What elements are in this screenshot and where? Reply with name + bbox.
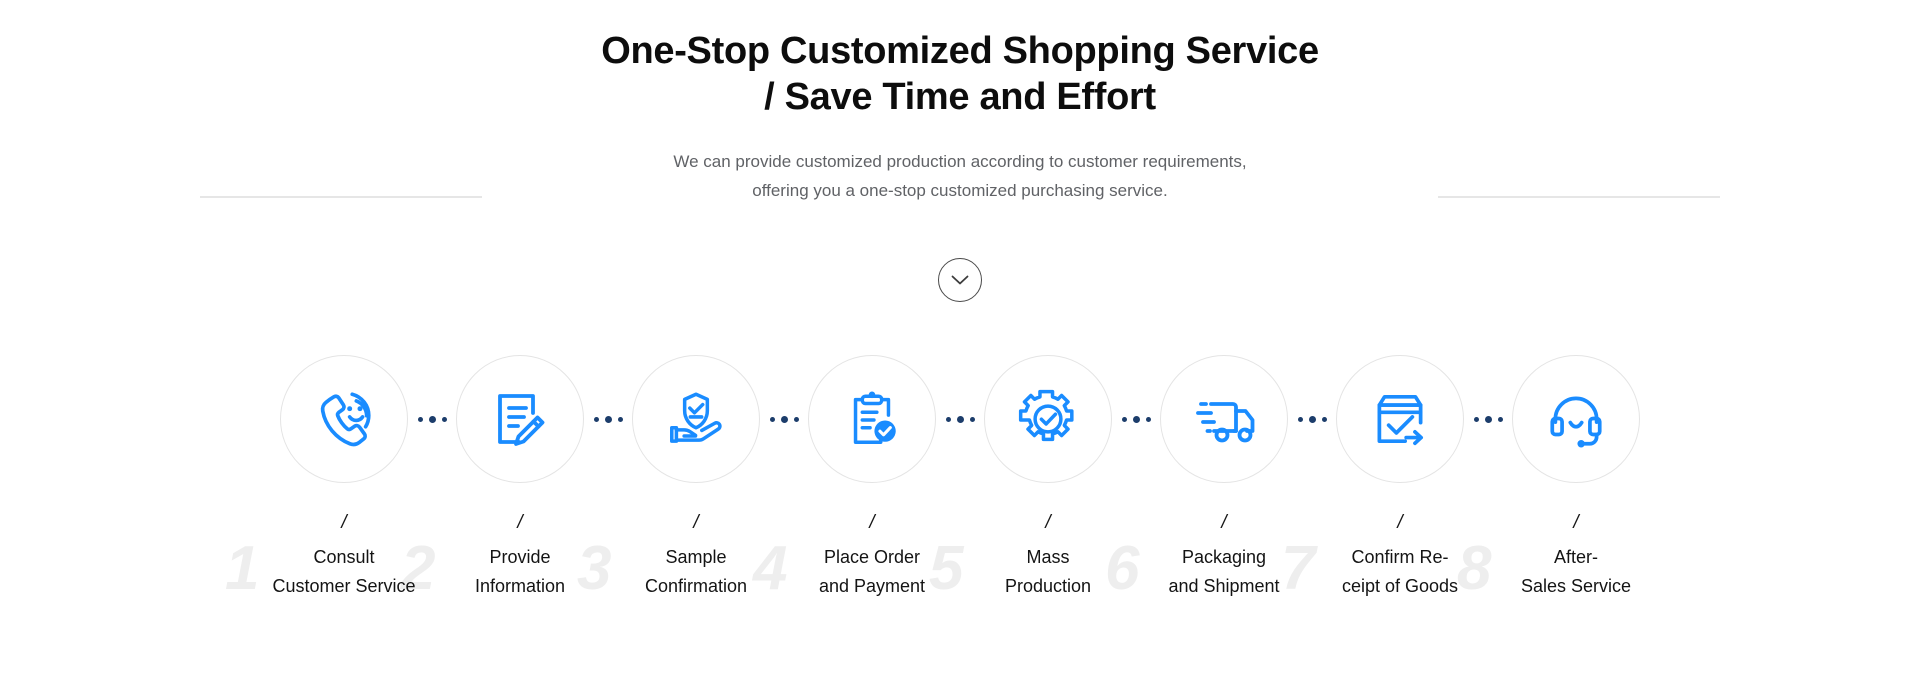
connector-dot xyxy=(429,416,436,423)
document-pencil-icon xyxy=(488,387,552,451)
connector-dot xyxy=(794,417,799,422)
hand-shield-check-icon xyxy=(663,386,729,452)
step-label-7: Confirm Re- ceipt of Goods xyxy=(1305,543,1495,601)
step-icon-circle-1[interactable] xyxy=(280,355,408,483)
connector-dot xyxy=(957,416,964,423)
process-step-2: / 2 Provide Information xyxy=(456,355,584,601)
step-label-8: After- Sales Service xyxy=(1481,543,1671,601)
connector-dot xyxy=(1322,417,1327,422)
step-label-6: Packaging and Shipment xyxy=(1129,543,1319,601)
process-step-3: / 3 Sample Confirmation xyxy=(632,355,760,601)
connector-dot xyxy=(770,417,775,422)
section-subtitle-line-2: offering you a one-stop customized purch… xyxy=(0,176,1920,205)
step-label-line1-5: Mass xyxy=(953,543,1143,572)
step-icon-circle-5[interactable] xyxy=(984,355,1112,483)
connector-dot xyxy=(1122,417,1127,422)
step-icon-circle-4[interactable] xyxy=(808,355,936,483)
divider-rule-right xyxy=(1438,196,1720,198)
connector-dot xyxy=(1298,417,1303,422)
step-connector-7 xyxy=(1464,355,1512,483)
connector-dot xyxy=(1498,417,1503,422)
clipboard-check-icon xyxy=(841,388,903,450)
connector-dot xyxy=(1309,416,1316,423)
step-connector-3 xyxy=(760,355,808,483)
section-subtitle-line-1: We can provide customized production acc… xyxy=(0,147,1920,176)
step-label-line1-4: Place Order xyxy=(777,543,967,572)
step-text-6: 6 Packaging and Shipment xyxy=(1129,543,1319,601)
delivery-truck-icon xyxy=(1190,385,1258,453)
step-label-line2-6: and Shipment xyxy=(1129,572,1319,601)
connector-dot xyxy=(946,417,951,422)
step-label-line1-3: Sample xyxy=(601,543,791,572)
step-text-8: 8 After- Sales Service xyxy=(1481,543,1671,601)
step-text-3: 3 Sample Confirmation xyxy=(601,543,791,601)
step-connector-5 xyxy=(1112,355,1160,483)
step-connector-1 xyxy=(408,355,456,483)
section-header: One-Stop Customized Shopping Service / S… xyxy=(0,0,1920,205)
step-slash-1: / xyxy=(341,513,346,532)
gear-check-icon xyxy=(1015,386,1081,452)
step-label-line2-4: and Payment xyxy=(777,572,967,601)
process-step-8: / 8 After- Sales Service xyxy=(1512,355,1640,601)
connector-dot xyxy=(1146,417,1151,422)
step-connector-6 xyxy=(1288,355,1336,483)
step-icon-circle-2[interactable] xyxy=(456,355,584,483)
step-slash-4: / xyxy=(869,513,874,532)
step-slash-5: / xyxy=(1045,513,1050,532)
step-label-3: Sample Confirmation xyxy=(601,543,791,601)
divider-rule-left xyxy=(200,196,482,198)
step-label-1: Consult Customer Service xyxy=(249,543,439,601)
connector-dot xyxy=(418,417,423,422)
process-steps: / 1 Consult Customer Service xyxy=(0,355,1920,601)
process-step-5: / 5 Mass Production xyxy=(984,355,1112,601)
step-icon-circle-8[interactable] xyxy=(1512,355,1640,483)
page-title-line-1: One-Stop Customized Shopping Service xyxy=(0,28,1920,74)
step-icon-circle-7[interactable] xyxy=(1336,355,1464,483)
step-text-4: 4 Place Order and Payment xyxy=(777,543,967,601)
connector-dot xyxy=(594,417,599,422)
step-slash-2: / xyxy=(517,513,522,532)
connector-dot xyxy=(1485,416,1492,423)
step-text-1: 1 Consult Customer Service xyxy=(249,543,439,601)
step-slash-8: / xyxy=(1573,513,1578,532)
process-step-7: / 7 Confirm Re- ceipt of Goods xyxy=(1336,355,1464,601)
process-step-1: / 1 Consult Customer Service xyxy=(280,355,408,601)
chevron-down-icon xyxy=(951,275,969,286)
step-label-line1-7: Confirm Re- xyxy=(1305,543,1495,572)
step-icon-circle-6[interactable] xyxy=(1160,355,1288,483)
step-label-line2-7: ceipt of Goods xyxy=(1305,572,1495,601)
step-label-line1-2: Provide xyxy=(425,543,615,572)
step-connector-2 xyxy=(584,355,632,483)
connector-dot xyxy=(442,417,447,422)
step-label-line2-5: Production xyxy=(953,572,1143,601)
step-label-4: Place Order and Payment xyxy=(777,543,967,601)
process-step-4: / 4 Place Order and Payment xyxy=(808,355,936,601)
step-label-line1-8: After- xyxy=(1481,543,1671,572)
step-label-2: Provide Information xyxy=(425,543,615,601)
connector-dot xyxy=(605,416,612,423)
scroll-down-button[interactable] xyxy=(938,258,982,302)
connector-dot xyxy=(1133,416,1140,423)
connector-dot xyxy=(970,417,975,422)
step-slash-3: / xyxy=(693,513,698,532)
step-icon-circle-3[interactable] xyxy=(632,355,760,483)
step-slash-6: / xyxy=(1221,513,1226,532)
step-label-line2-3: Confirmation xyxy=(601,572,791,601)
step-text-7: 7 Confirm Re- ceipt of Goods xyxy=(1305,543,1495,601)
step-text-5: 5 Mass Production xyxy=(953,543,1143,601)
step-label-5: Mass Production xyxy=(953,543,1143,601)
connector-dot xyxy=(1474,417,1479,422)
page-title-line-2: / Save Time and Effort xyxy=(0,74,1920,120)
step-label-line2-8: Sales Service xyxy=(1481,572,1671,601)
connector-dot xyxy=(781,416,788,423)
headset-icon xyxy=(1543,386,1609,452)
process-step-6: / 6 Packaging and Shipment xyxy=(1160,355,1288,601)
step-connector-4 xyxy=(936,355,984,483)
step-label-line2-2: Information xyxy=(425,572,615,601)
customized-service-process-section: One-Stop Customized Shopping Service / S… xyxy=(0,0,1920,673)
phone-smile-icon xyxy=(311,386,377,452)
step-label-line2-1: Customer Service xyxy=(249,572,439,601)
step-text-2: 2 Provide Information xyxy=(425,543,615,601)
step-label-line1-6: Packaging xyxy=(1129,543,1319,572)
connector-dot xyxy=(618,417,623,422)
step-label-line1-1: Consult xyxy=(249,543,439,572)
page-title: One-Stop Customized Shopping Service / S… xyxy=(0,28,1920,121)
step-slash-7: / xyxy=(1397,513,1402,532)
box-check-arrow-icon xyxy=(1367,386,1433,452)
